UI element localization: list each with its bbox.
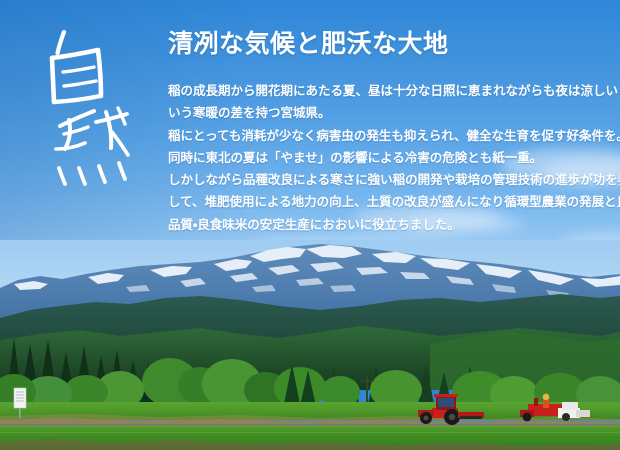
text-line: 同時に東北の夏は「やませ」の影響による冷害の危険とも紙一重。 <box>168 147 620 169</box>
text-line: 稲の成長期から開花期にあたる夏、昼は十分な日照に恵まれながらも夜は涼しいと <box>168 80 620 102</box>
text-line: 品質・良食味米の安定生産におおいに役立ちました。 <box>168 214 620 236</box>
paragraph: しかしながら品種改良による寒さに強い稲の開発や栽培の管理技術の進歩が功を奏 して… <box>168 169 620 236</box>
hero-banner: 清冽な気候と肥沃な大地 稲の成長期から開花期にあたる夏、昼は十分な日照に恵まれな… <box>0 0 620 450</box>
shizen-calligraphy-icon <box>30 16 150 196</box>
paragraph: 稲にとっても消耗が少なく病害虫の発生も抑えられ、健全な生育を促す好条件を。 同時… <box>168 125 620 170</box>
text-line: いう寒暖の差を持つ宮城県。 <box>168 102 620 124</box>
paragraph: 稲の成長期から開花期にあたる夏、昼は十分な日照に恵まれながらも夜は涼しいと いう… <box>168 80 620 125</box>
text-line: しかしながら品種改良による寒さに強い稲の開発や栽培の管理技術の進歩が功を奏 <box>168 169 620 191</box>
text-line: して、堆肥使用による地力の向上、土質の改良が盛んになり循環型農業の発展と良 <box>168 191 620 213</box>
text-line: 稲にとっても消耗が少なく病害虫の発生も抑えられ、健全な生育を促す好条件を。 <box>168 125 620 147</box>
landscape-illustration <box>0 240 620 450</box>
body-copy: 稲の成長期から開花期にあたる夏、昼は十分な日照に恵まれながらも夜は涼しいと いう… <box>168 80 620 236</box>
page-title: 清冽な気候と肥沃な大地 <box>168 29 449 59</box>
landscape-photo <box>0 240 620 450</box>
shizen-calligraphy-mark <box>30 16 150 196</box>
